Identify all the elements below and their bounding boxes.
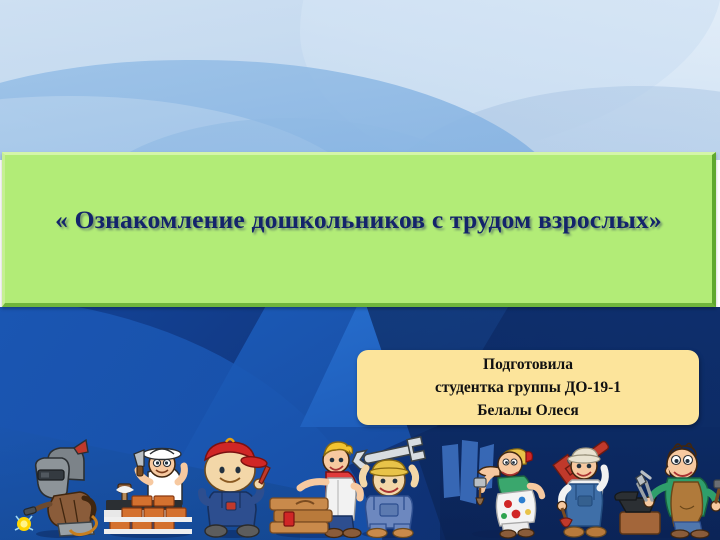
plumber-character: [540, 438, 626, 538]
bricklayer-character: [100, 438, 196, 538]
author-line-prepared-by: Подготовила: [483, 353, 573, 376]
painter-character: [440, 438, 550, 538]
page-title: « Ознакомление дошкольников с трудом взр…: [5, 205, 712, 235]
author-box: Подготовила студентка группы ДО-19-1 Бел…: [357, 350, 699, 425]
blacksmith-character: [616, 438, 720, 538]
presentation-slide: « Ознакомление дошкольников с трудом взр…: [0, 0, 720, 540]
handyman-character: [196, 438, 268, 538]
title-plate: « Ознакомление дошкольников с трудом взр…: [2, 152, 716, 307]
welder-character: [14, 438, 100, 538]
worker-characters-row: [0, 430, 720, 540]
mechanic-character: [350, 438, 428, 538]
author-line-name: Белалы Олеся: [477, 399, 578, 422]
author-line-group: студентка группы ДО-19-1: [435, 376, 621, 399]
top-background: [0, 0, 720, 160]
